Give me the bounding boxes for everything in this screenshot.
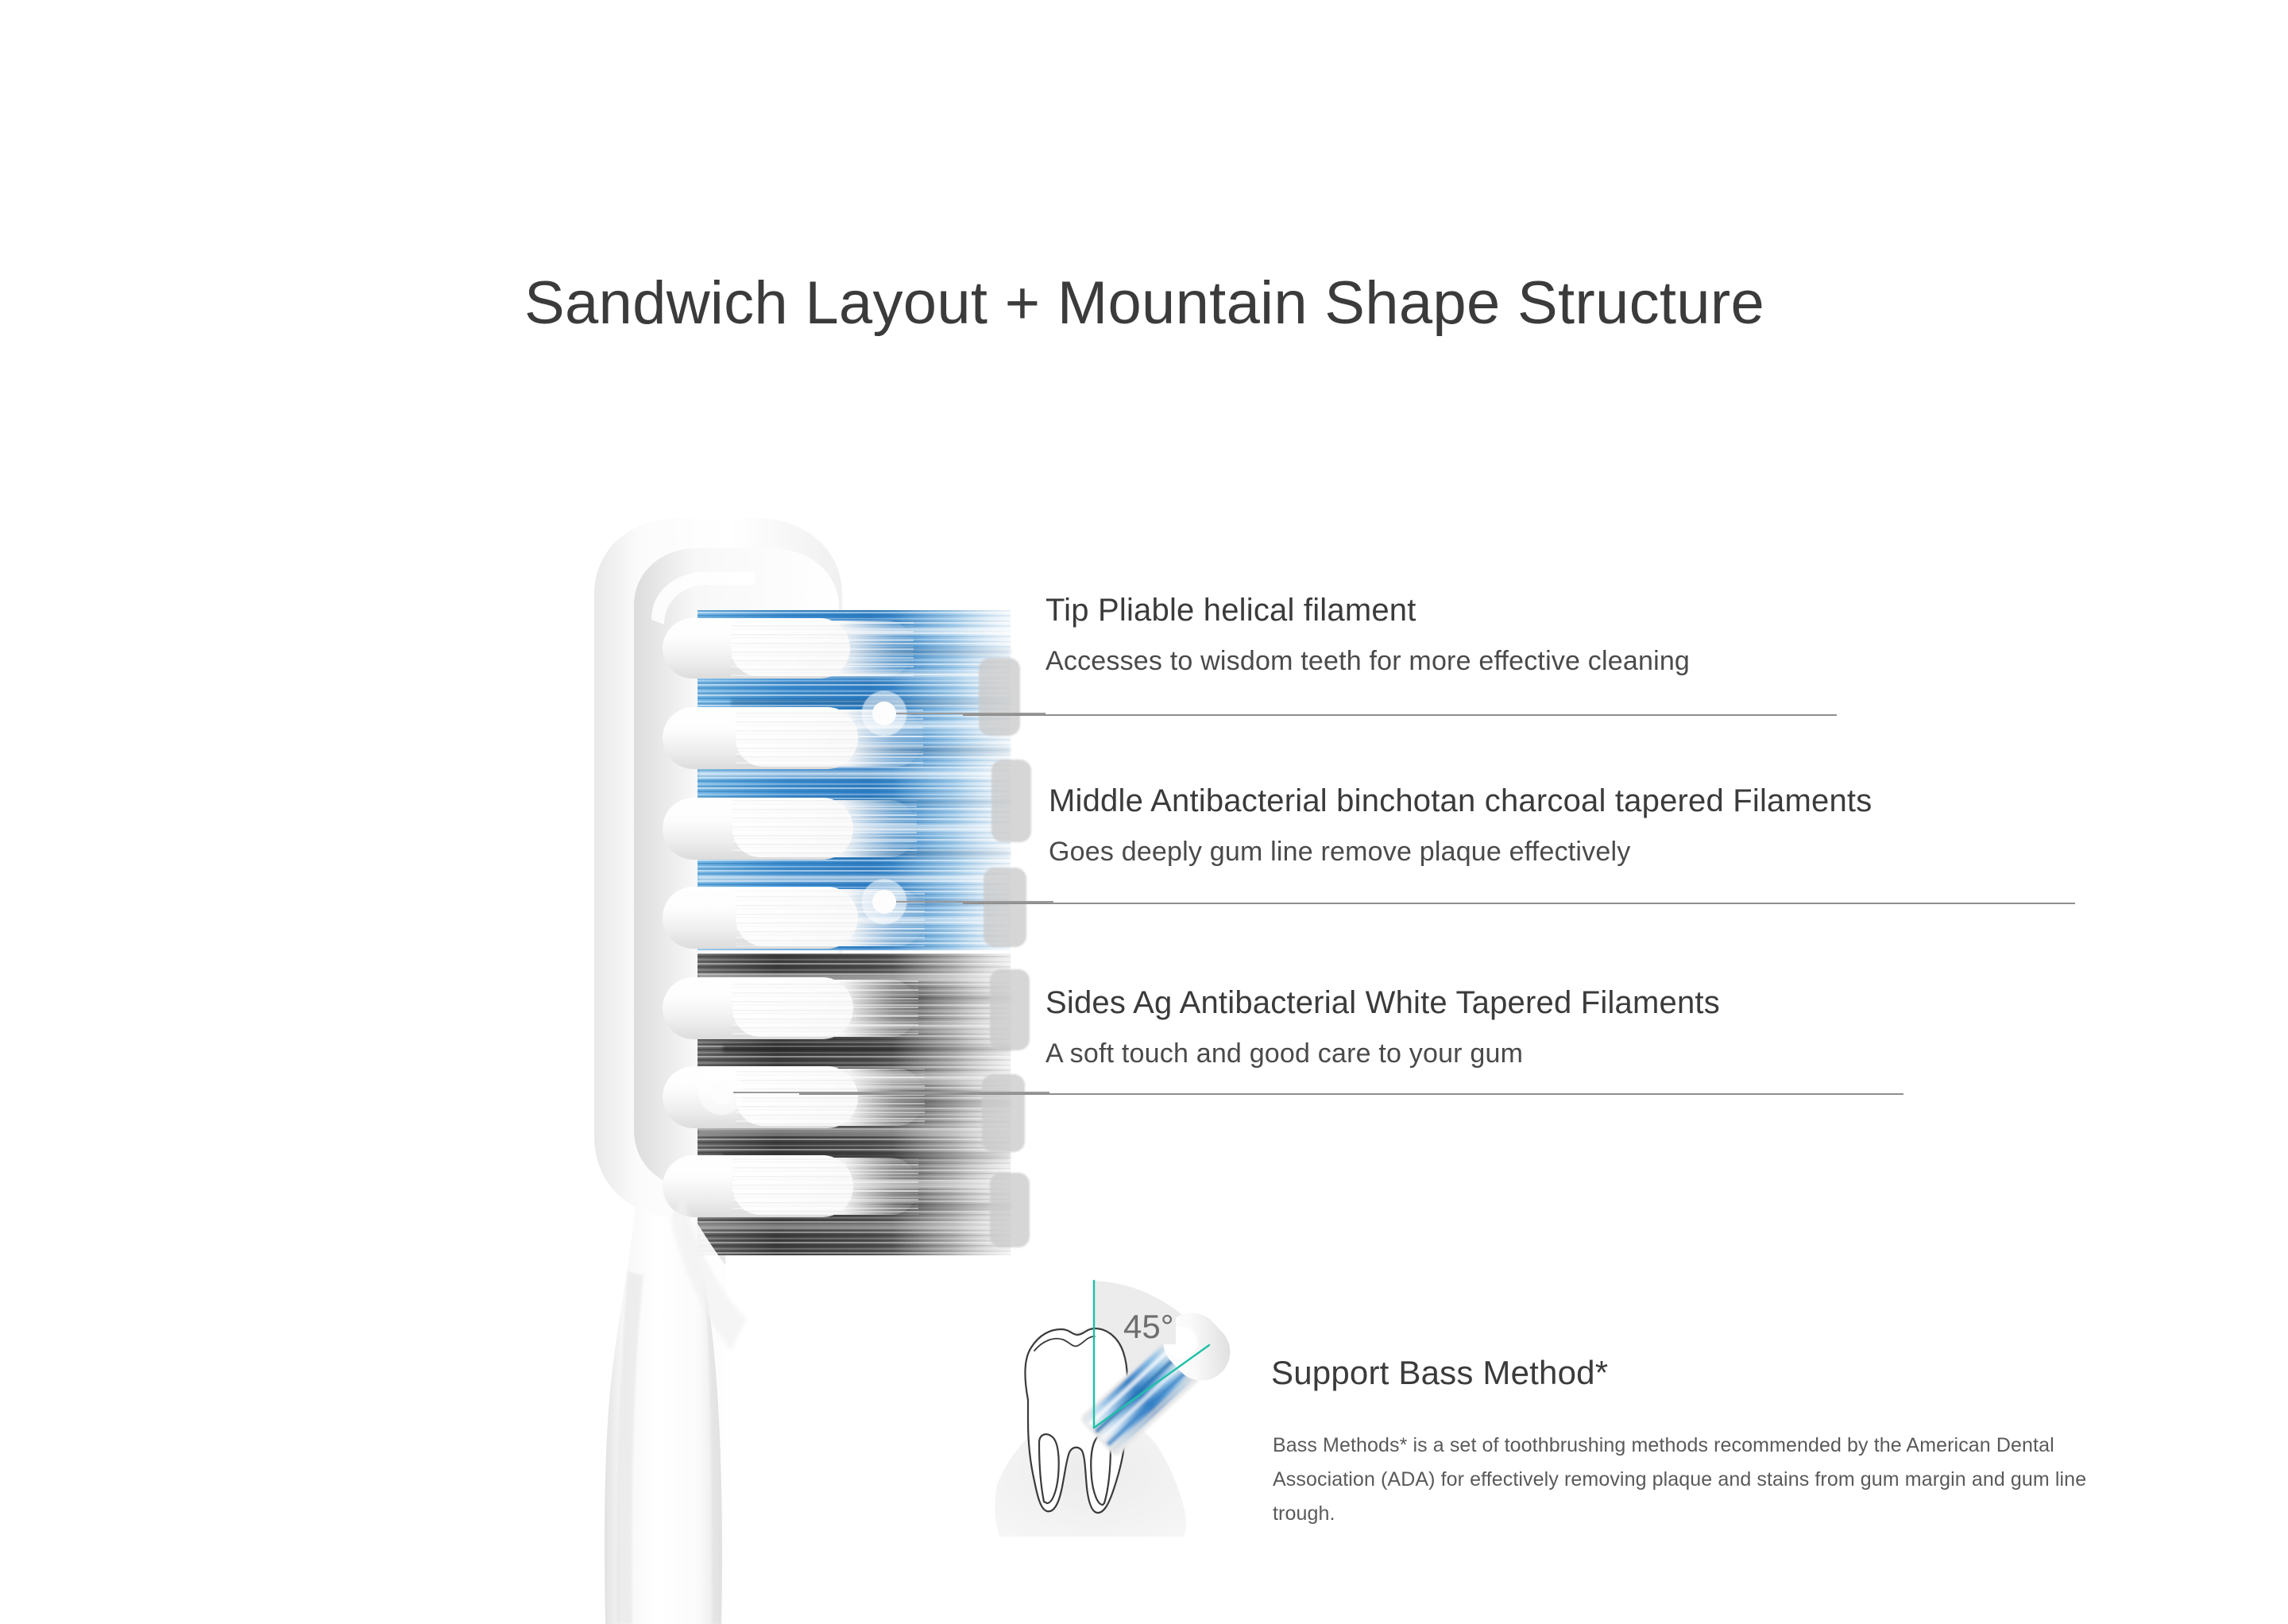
callout-sides-rule [799,1093,1903,1095]
callout-sides: Sides Ag Antibacterial White Tapered Fil… [1045,987,1720,1067]
callout-middle: Middle Antibacterial binchotan charcoal … [1049,785,1872,865]
callout-tip-subtitle: Accesses to wisdom teeth for more effect… [1045,648,1690,675]
callout-tip-title: Tip Pliable helical filament [1045,594,1690,626]
callout-middle-title: Middle Antibacterial binchotan charcoal … [1049,785,1872,817]
callout-marker-middle[interactable] [872,890,896,914]
callout-sides-title: Sides Ag Antibacterial White Tapered Fil… [1045,987,1720,1019]
callout-tip-rule [963,714,1837,716]
bass-method-title: Support Bass Method* [1271,1354,1608,1392]
callout-middle-subtitle: Goes deeply gum line remove plaque effec… [1049,838,1872,865]
toothbrush-illustration [493,508,1049,1624]
callout-tip: Tip Pliable helical filament Accesses to… [1045,594,1690,675]
bass-method-diagram: 45° [993,1263,1279,1549]
callout-middle-rule [963,903,2075,904]
callout-marker-tip[interactable] [872,702,896,725]
callout-marker-sides[interactable] [709,1081,733,1104]
page-title: Sandwich Layout + Mountain Shape Structu… [524,269,1764,338]
bass-method-body: Bass Methods* is a set of toothbrushing … [1273,1429,2131,1531]
angle-label-text: 45° [1122,1309,1176,1344]
infographic-canvas: Sandwich Layout + Mountain Shape Structu… [0,0,2288,1624]
callout-sides-subtitle: A soft touch and good care to your gum [1045,1040,1720,1067]
